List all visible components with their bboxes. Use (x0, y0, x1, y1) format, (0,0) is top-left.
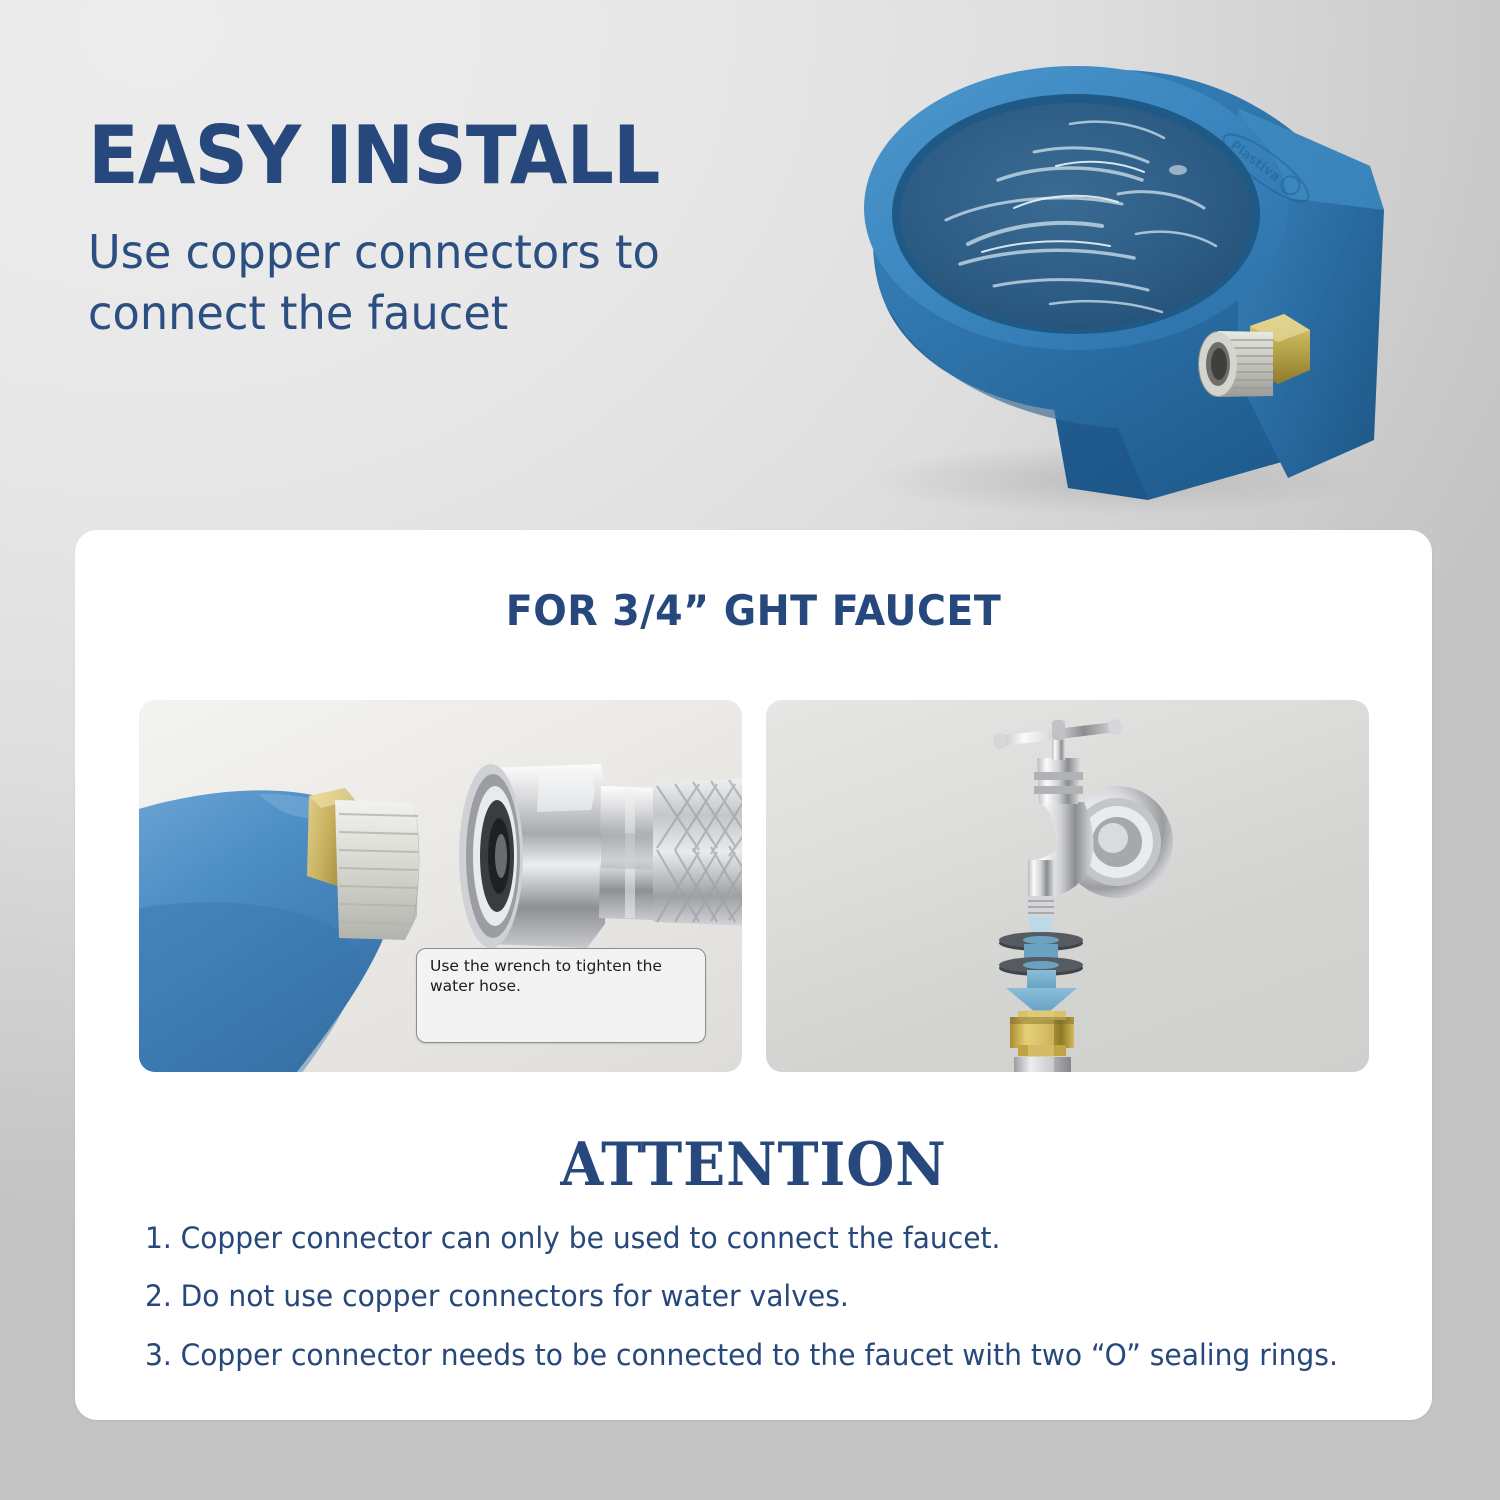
wrench-callout: Use the wrench to tighten the water hose… (416, 948, 706, 1043)
wrench-icon (417, 949, 742, 1072)
card-title: FOR 3/4” GHT FAUCET (116, 586, 1392, 635)
attention-heading: ATTENTION (129, 1130, 1377, 1200)
list-item: 1. Copper connector can only be used to … (145, 1220, 1348, 1256)
list-item-number: 2. (145, 1278, 172, 1314)
list-item-number: 1. (145, 1220, 172, 1256)
page-subtitle: Use copper connectors to connect the fau… (88, 222, 748, 343)
infographic-page: EASY INSTALL Use copper connectors to co… (0, 0, 1500, 1500)
page-title: EASY INSTALL (88, 118, 739, 194)
attention-notes: 1. Copper connector can only be used to … (145, 1220, 1385, 1395)
chrome-hose-nut (459, 764, 607, 948)
product-image: Plastiva (818, 48, 1438, 528)
list-item-text: Do not use copper connectors for water v… (181, 1278, 1348, 1314)
list-item-number: 3. (145, 1337, 172, 1373)
info-card: FOR 3/4” GHT FAUCET (75, 530, 1432, 1420)
hose-connection-panel: Use the wrench to tighten the water hose… (139, 700, 742, 1072)
photo-panels: Use the wrench to tighten the water hose… (139, 700, 1369, 1072)
list-item: 2. Do not use copper connectors for wate… (145, 1278, 1348, 1314)
faucet-oring-panel (766, 700, 1369, 1072)
list-item-text: Copper connector needs to be connected t… (181, 1337, 1348, 1373)
copper-connector (1010, 1010, 1074, 1058)
hose-end (1014, 1057, 1071, 1072)
list-item: 3. Copper connector needs to be connecte… (145, 1337, 1348, 1373)
list-item-text: Copper connector can only be used to con… (181, 1220, 1348, 1256)
hero-text-block: EASY INSTALL Use copper connectors to co… (88, 118, 788, 343)
